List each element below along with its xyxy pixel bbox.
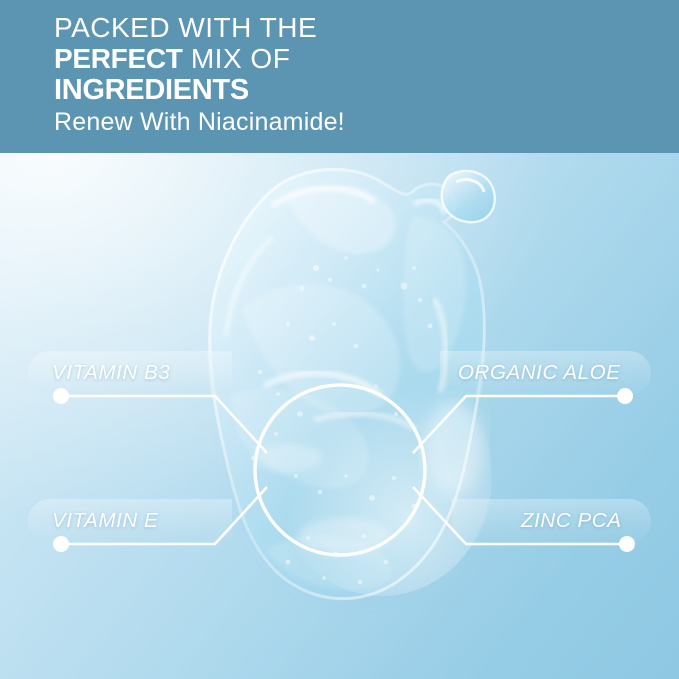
headline-line-2-rest: MIX OF xyxy=(183,43,291,74)
headline-line-2: PERFECT MIX OF xyxy=(54,45,345,73)
headline-emphasis-perfect: PERFECT xyxy=(54,43,183,74)
gel-droplet xyxy=(442,171,495,222)
product-infographic: PACKED WITH THE PERFECT MIX OF INGREDIEN… xyxy=(0,0,679,679)
header-headline-block: PACKED WITH THE PERFECT MIX OF INGREDIEN… xyxy=(54,14,345,135)
callout-label-zinc-pca: ZINC PCA xyxy=(521,509,621,533)
hero-photo-stage: VITAMIN B3 ORGANIC ALOE VITAMIN E ZINC P… xyxy=(0,153,679,679)
callout-label-vitamin-b3: VITAMIN B3 xyxy=(52,361,170,385)
callout-label-vitamin-e: VITAMIN E xyxy=(52,509,158,533)
headline-line-3: INGREDIENTS xyxy=(54,76,345,105)
headline-subtitle: Renew With Niacinamide! xyxy=(54,110,345,135)
header-band: PACKED WITH THE PERFECT MIX OF INGREDIEN… xyxy=(0,0,679,153)
callout-label-organic-aloe: ORGANIC ALOE xyxy=(458,361,621,385)
headline-line-1: PACKED WITH THE xyxy=(54,14,345,42)
